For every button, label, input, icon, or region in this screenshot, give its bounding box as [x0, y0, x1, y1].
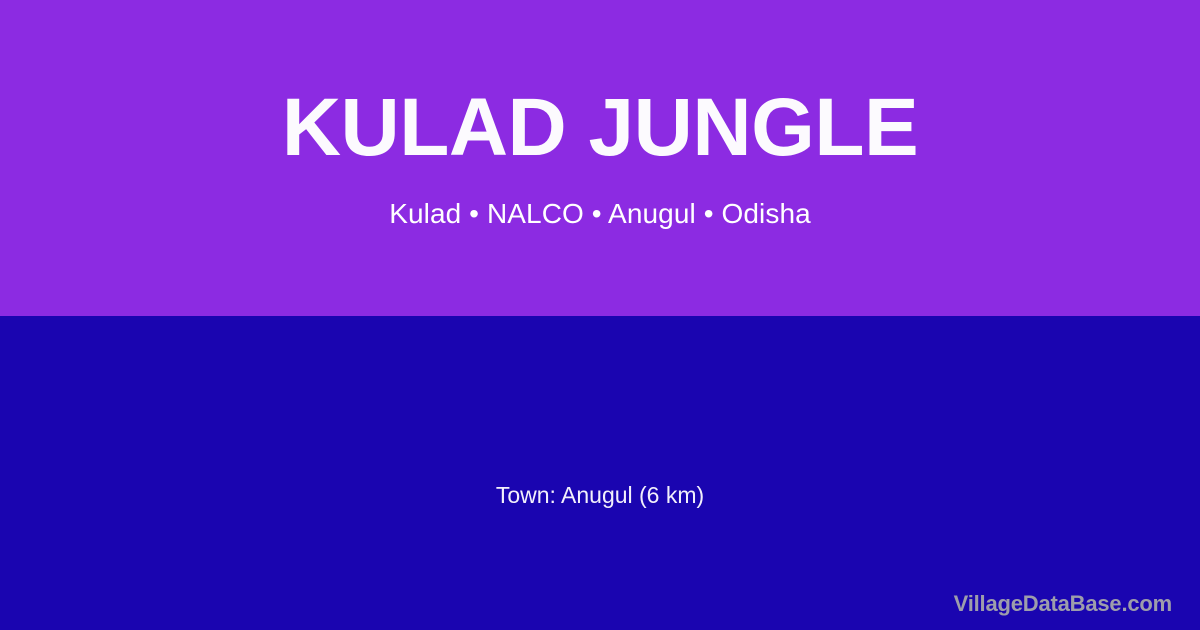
- header-content: KULAD JUNGLE Kulad • NALCO • Anugul • Od…: [0, 0, 1200, 316]
- breadcrumb: Kulad • NALCO • Anugul • Odisha: [389, 200, 811, 228]
- page-title: KULAD JUNGLE: [282, 87, 918, 169]
- village-info-card: KULAD JUNGLE Kulad • NALCO • Anugul • Od…: [0, 0, 1200, 630]
- body-content: Town: Anugul (6 km): [0, 316, 1200, 630]
- site-watermark: VillageDataBase.com: [954, 591, 1172, 617]
- nearest-town-detail: Town: Anugul (6 km): [0, 484, 1200, 507]
